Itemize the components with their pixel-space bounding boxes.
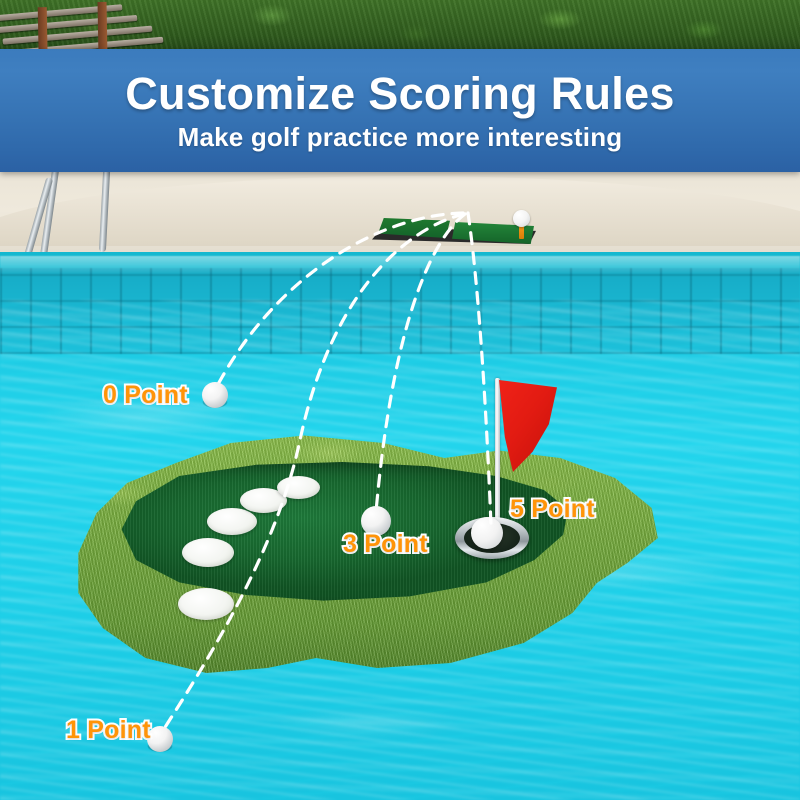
score-3-label: 3 Point [343,530,428,559]
target-circle [182,538,234,567]
ball-on-tee-icon [513,210,530,227]
score-0-label: 0 Point [103,381,188,410]
headline-banner: Customize Scoring Rules Make golf practi… [0,49,800,172]
page-subtitle: Make golf practice more interesting [178,124,623,150]
ball-in-cup [471,517,503,549]
product-marketing-image: 0 Point1 Point3 Point5 Point Customize S… [0,0,800,800]
score-1-label: 1 Point [66,716,151,745]
target-circle [178,588,234,620]
target-circle [277,476,320,499]
page-title: Customize Scoring Rules [125,71,675,116]
flag-pole [495,378,500,530]
target-circle [207,508,257,535]
score-5-label: 5 Point [510,495,595,524]
golf-hitting-mat [372,212,542,256]
